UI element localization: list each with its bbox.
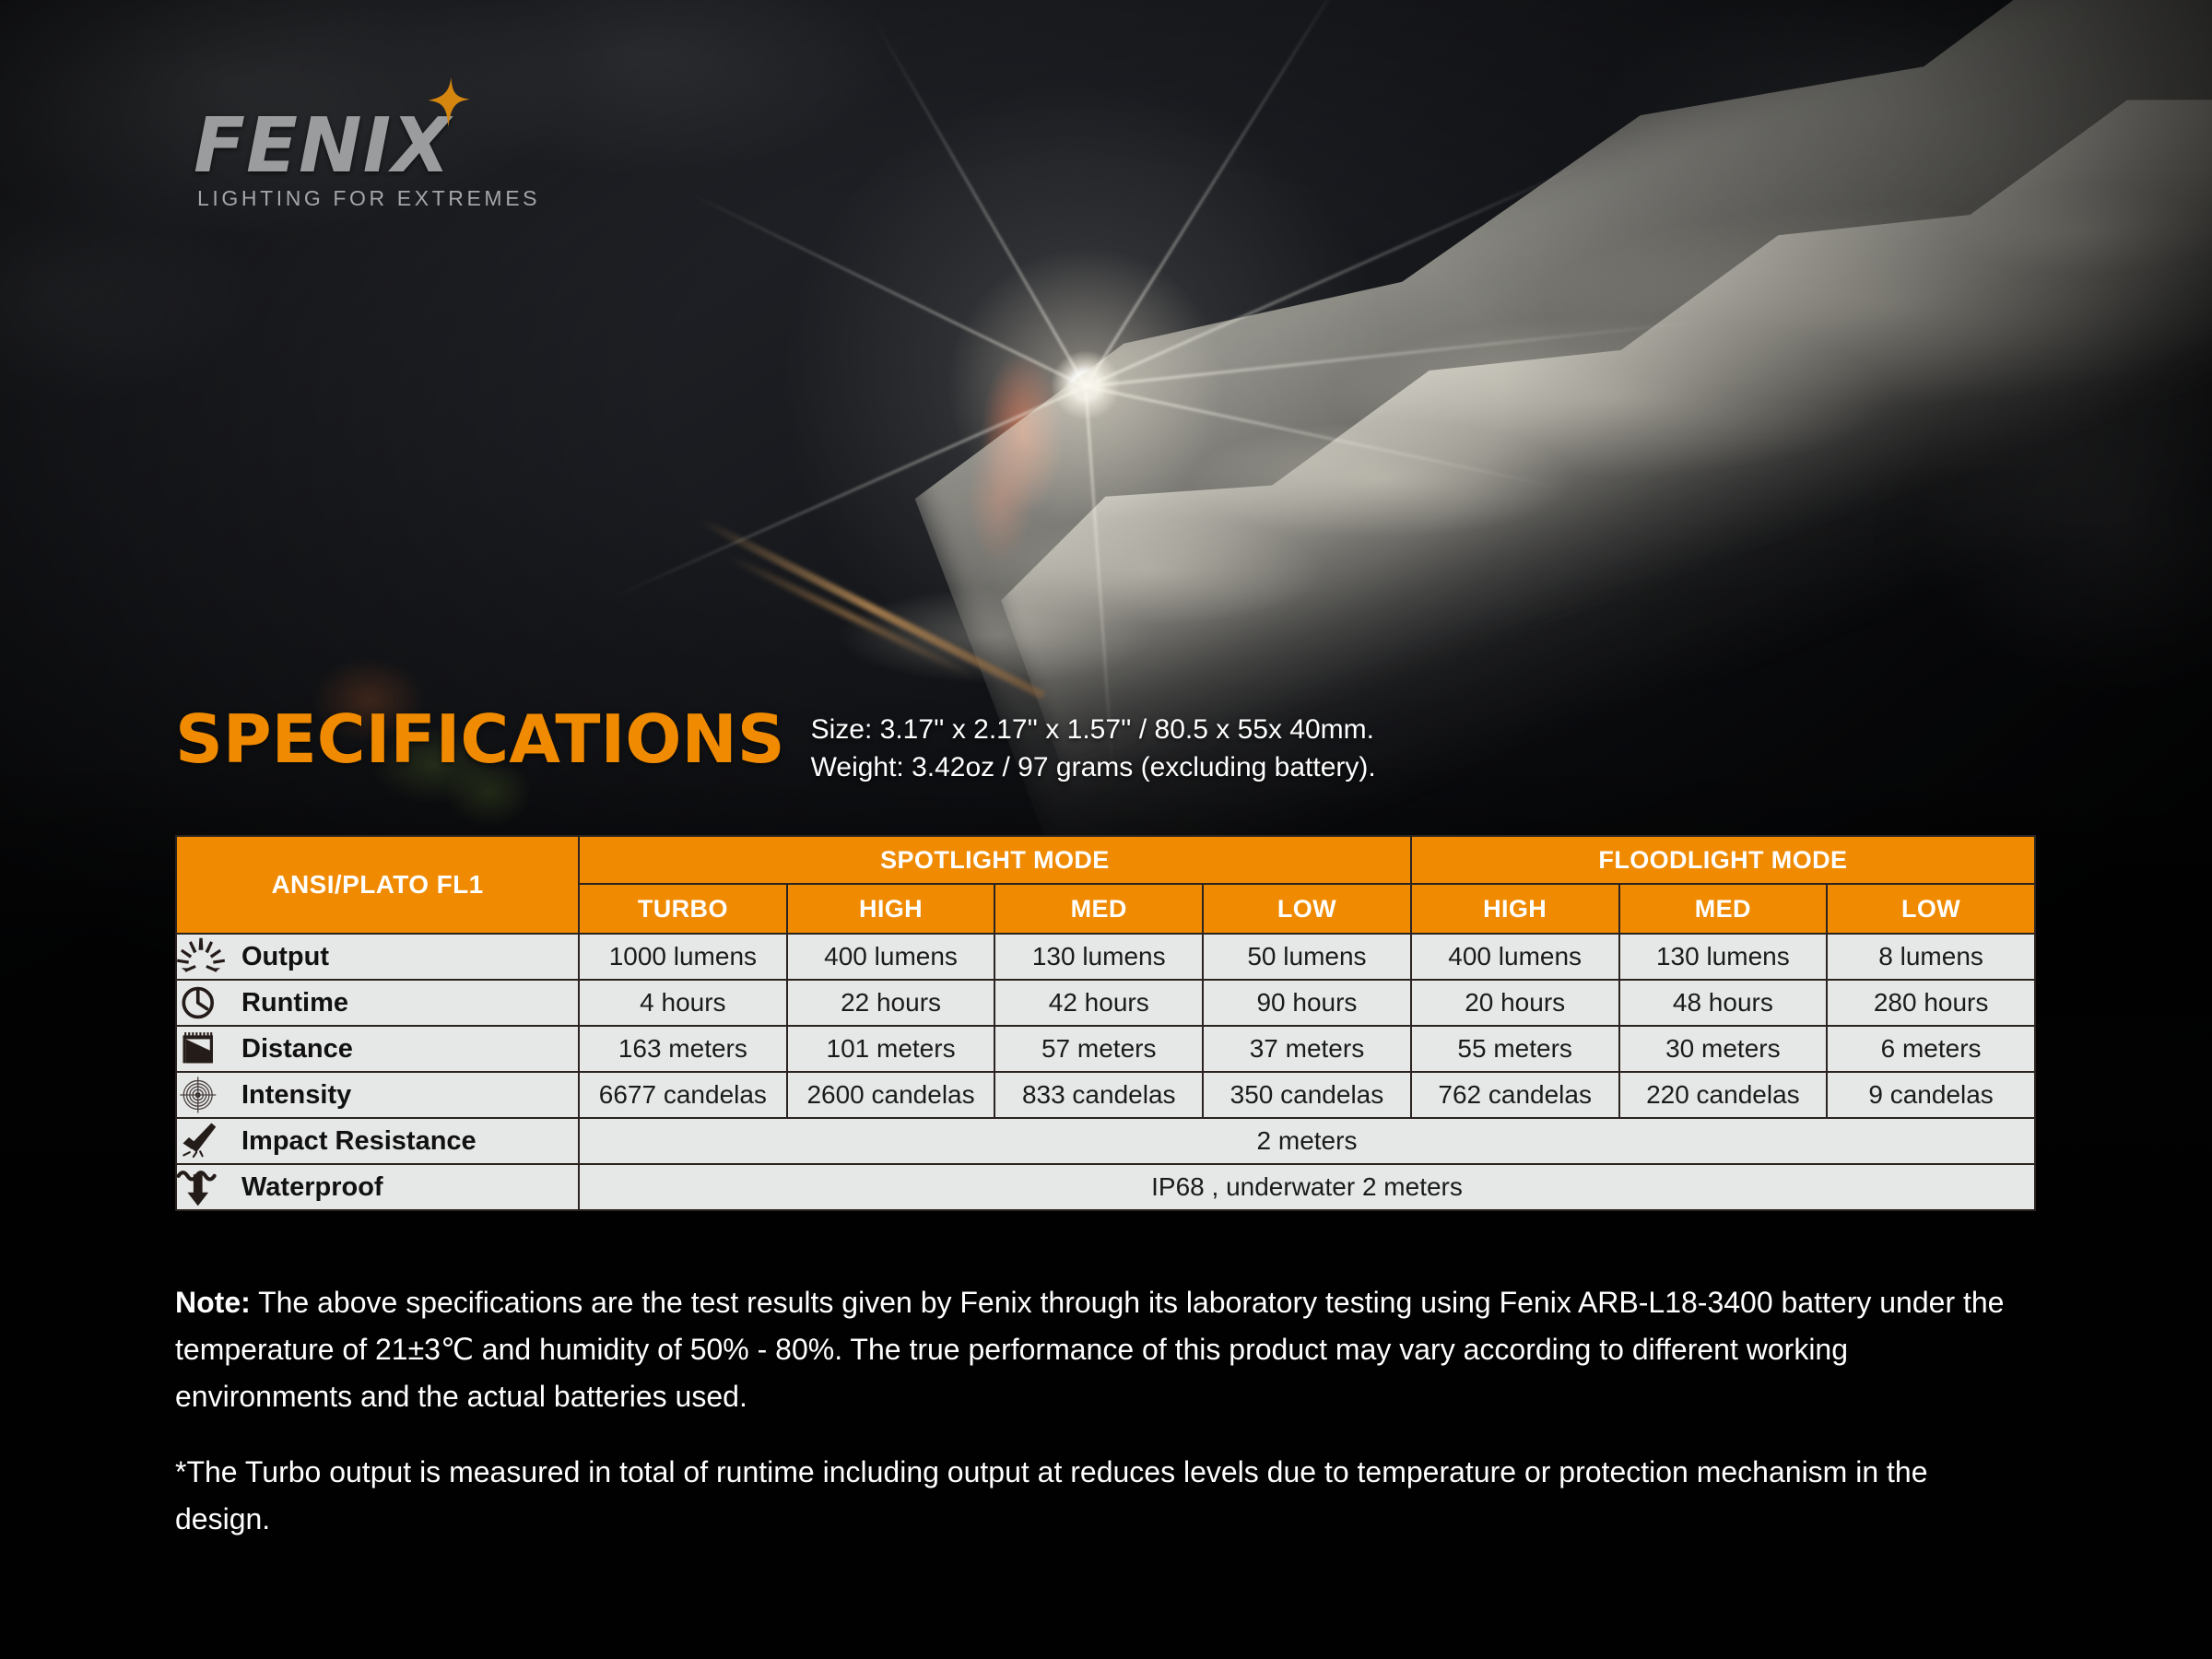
footnote-paragraph: *The Turbo output is measured in total o…	[175, 1449, 2009, 1543]
size-weight-block: Size: 3.17'' x 2.17'' x 1.57'' / 80.5 x …	[811, 712, 1376, 787]
cell-output-spot-high: 400 lumens	[787, 934, 995, 980]
cell-distance-flood-low: 6 meters	[1827, 1026, 2035, 1072]
cell-intensity-spot-high: 2600 candelas	[787, 1072, 995, 1118]
cell-runtime-flood-med: 48 hours	[1619, 980, 1828, 1026]
header-floodlight-mode: FLOODLIGHT MODE	[1411, 836, 2035, 884]
bullseye-target-icon	[177, 1075, 225, 1115]
header-ansi-plato: ANSI/PLATO FL1	[176, 836, 579, 934]
row-label-text: Intensity	[241, 1080, 351, 1111]
cell-output-flood-high: 400 lumens	[1411, 934, 1619, 980]
row-label-output: Output	[176, 934, 579, 980]
cell-runtime-spot-turbo: 4 hours	[579, 980, 787, 1026]
cell-runtime-flood-low: 280 hours	[1827, 980, 2035, 1026]
cell-intensity-flood-med: 220 candelas	[1619, 1072, 1828, 1118]
cell-distance-spot-high: 101 meters	[787, 1026, 995, 1072]
note-body: The above specifications are the test re…	[175, 1286, 2004, 1413]
table-row: Output 1000 lumens 400 lumens 130 lumens…	[176, 934, 2035, 980]
table-row: Runtime 4 hours 22 hours 42 hours 90 hou…	[176, 980, 2035, 1026]
row-label-text: Output	[241, 942, 329, 972]
table-row: Intensity 6677 candelas 2600 candelas 83…	[176, 1072, 2035, 1118]
cell-output-flood-med: 130 lumens	[1619, 934, 1828, 980]
cell-distance-spot-med: 57 meters	[994, 1026, 1203, 1072]
note-paragraph: Note: The above specifications are the t…	[175, 1279, 2009, 1421]
cell-waterproof-value: IP68 , underwater 2 meters	[579, 1164, 2035, 1210]
cell-output-spot-low: 50 lumens	[1203, 934, 1411, 980]
clock-icon	[177, 982, 225, 1023]
cell-intensity-spot-med: 833 candelas	[994, 1072, 1203, 1118]
cell-intensity-flood-high: 762 candelas	[1411, 1072, 1619, 1118]
cell-runtime-spot-med: 42 hours	[994, 980, 1203, 1026]
notes-block: Note: The above specifications are the t…	[175, 1279, 2009, 1571]
header-spot-low: LOW	[1203, 884, 1411, 934]
cell-distance-flood-med: 30 meters	[1619, 1026, 1828, 1072]
weight-line: Weight: 3.42oz / 97 grams (excluding bat…	[811, 749, 1376, 787]
fenix-logo: FENIX LIGHTING FOR EXTREMES	[194, 112, 540, 211]
cell-distance-spot-turbo: 163 meters	[579, 1026, 787, 1072]
sunburst-icon	[177, 936, 225, 977]
header-spot-med: MED	[994, 884, 1203, 934]
header-flood-high: HIGH	[1411, 884, 1619, 934]
specifications-table-wrap: ANSI/PLATO FL1 SPOTLIGHT MODE FLOODLIGHT…	[175, 835, 2036, 1211]
impact-hammer-icon	[177, 1121, 225, 1161]
table-row: Impact Resistance 2 meters	[176, 1118, 2035, 1164]
table-row: Distance 163 meters 101 meters 57 meters…	[176, 1026, 2035, 1072]
cell-output-spot-turbo: 1000 lumens	[579, 934, 787, 980]
row-label-runtime: Runtime	[176, 980, 579, 1026]
specifications-table: ANSI/PLATO FL1 SPOTLIGHT MODE FLOODLIGHT…	[175, 835, 2036, 1211]
header-spotlight-mode: SPOTLIGHT MODE	[579, 836, 1411, 884]
row-label-text: Waterproof	[241, 1172, 383, 1203]
header-spot-turbo: TURBO	[579, 884, 787, 934]
cell-runtime-spot-high: 22 hours	[787, 980, 995, 1026]
note-prefix: Note:	[175, 1286, 251, 1319]
cell-runtime-flood-high: 20 hours	[1411, 980, 1619, 1026]
header-flood-low: LOW	[1827, 884, 2035, 934]
four-point-star-icon	[420, 77, 470, 127]
waterproof-arrow-icon	[177, 1167, 225, 1207]
specifications-heading: SPECIFICATIONS Size: 3.17'' x 2.17'' x 1…	[175, 706, 1376, 787]
header-flood-med: MED	[1619, 884, 1828, 934]
logo-wordmark: FENIX	[194, 112, 540, 181]
page-root: FENIX LIGHTING FOR EXTREMES SPECIFICATIO…	[0, 0, 2212, 1659]
row-label-text: Impact Resistance	[241, 1126, 477, 1157]
cell-output-flood-low: 8 lumens	[1827, 934, 2035, 980]
cell-output-spot-med: 130 lumens	[994, 934, 1203, 980]
row-label-distance: Distance	[176, 1026, 579, 1072]
row-label-intensity: Intensity	[176, 1072, 579, 1118]
row-label-impact-resistance: Impact Resistance	[176, 1118, 579, 1164]
row-label-waterproof: Waterproof	[176, 1164, 579, 1210]
table-header-modes: ANSI/PLATO FL1 SPOTLIGHT MODE FLOODLIGHT…	[176, 836, 2035, 884]
cell-runtime-spot-low: 90 hours	[1203, 980, 1411, 1026]
page-title: SPECIFICATIONS	[175, 706, 785, 772]
row-label-text: Runtime	[241, 988, 348, 1018]
header-spot-high: HIGH	[787, 884, 995, 934]
cell-intensity-flood-low: 9 candelas	[1827, 1072, 2035, 1118]
row-label-text: Distance	[241, 1034, 353, 1065]
cell-intensity-spot-low: 350 candelas	[1203, 1072, 1411, 1118]
cell-distance-flood-high: 55 meters	[1411, 1026, 1619, 1072]
table-row: Waterproof IP68 , underwater 2 meters	[176, 1164, 2035, 1210]
cell-intensity-spot-turbo: 6677 candelas	[579, 1072, 787, 1118]
cell-impact-resistance-value: 2 meters	[579, 1118, 2035, 1164]
cell-distance-spot-low: 37 meters	[1203, 1026, 1411, 1072]
size-line: Size: 3.17'' x 2.17'' x 1.57'' / 80.5 x …	[811, 712, 1376, 749]
measuring-tape-icon	[177, 1029, 225, 1069]
